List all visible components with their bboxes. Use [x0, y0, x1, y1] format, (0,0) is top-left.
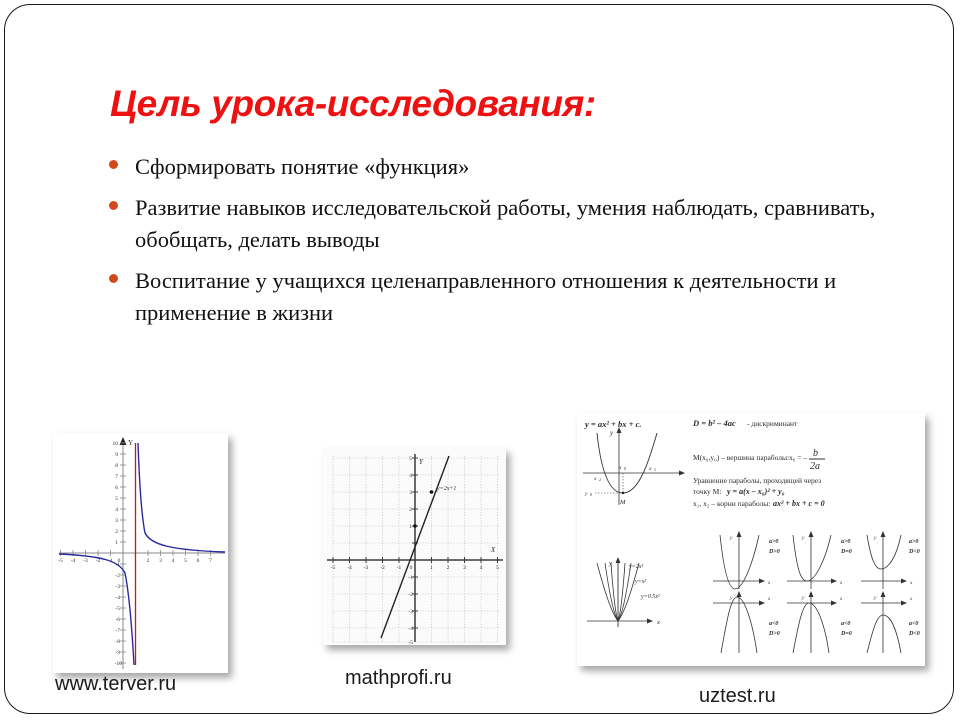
svg-text:1: 1 [654, 467, 656, 472]
svg-text:3: 3 [115, 518, 118, 524]
svg-text:-5: -5 [331, 565, 336, 571]
family-label-2: y=0.5x² [640, 594, 660, 600]
svg-text:x: x [648, 466, 652, 472]
svg-text:10: 10 [113, 441, 119, 447]
svg-text:9: 9 [115, 452, 118, 458]
svg-text:5: 5 [184, 558, 187, 564]
svg-text:3: 3 [159, 558, 162, 564]
svg-text:-5: -5 [115, 606, 120, 612]
bullet-text: Развитие навыков исследовательской работ… [135, 192, 899, 256]
through-point-line1: Уравнение параболы, проходящей через [693, 476, 821, 485]
svg-text:2: 2 [147, 558, 150, 564]
svg-text:y: y [729, 535, 733, 541]
svg-text:-2: -2 [115, 573, 120, 579]
svg-text:-7: -7 [115, 628, 120, 634]
point-intercept [413, 524, 417, 528]
svg-text:-2: -2 [96, 558, 101, 564]
svg-text:-4: -4 [115, 595, 120, 601]
bullet-text: Воспитание у учащихся целенаправленного … [135, 265, 899, 329]
svg-text:-3: -3 [364, 565, 369, 571]
svg-text:8: 8 [115, 463, 118, 469]
svg-text:5: 5 [409, 456, 412, 462]
svg-text:-1: -1 [397, 565, 402, 571]
roots-label: x₁, x₂ – корни параболы: [693, 499, 770, 508]
case-a-label-5: a<0 [909, 621, 918, 627]
svg-text:0: 0 [590, 492, 592, 497]
svg-text:-4: -4 [408, 626, 413, 632]
list-item: Развитие навыков исследовательской работ… [109, 192, 899, 256]
svg-text:1: 1 [430, 565, 433, 571]
svg-text:4: 4 [480, 565, 483, 571]
discriminant-formula: D = b² – 4ac [692, 418, 736, 428]
case-d-label-3: D>0 [768, 631, 780, 637]
bullet-text: Сформировать понятие «функция» [135, 151, 469, 183]
case-a-label-4: a<0 [841, 621, 850, 627]
y-tick-labels: 10 9 8 7 6 5 4 3 2 1 -1 -2 -3 -4 -5 -6 -… [113, 441, 123, 667]
list-item: Воспитание у учащихся целенаправленного … [109, 265, 899, 329]
svg-text:0: 0 [624, 466, 626, 471]
case-a-label-0: a>0 [769, 539, 778, 545]
parabola-reference-image: y = ax² + bx + c. D = b² – 4ac - дискрим… [577, 413, 925, 666]
svg-text:2: 2 [447, 565, 450, 571]
svg-text:y: y [873, 595, 877, 601]
axis-lines [59, 441, 225, 669]
discriminant-caption: - дискриминант [747, 419, 798, 428]
case-d-label-2: D<0 [908, 549, 920, 555]
svg-text:x: x [593, 476, 597, 482]
svg-text:4: 4 [172, 558, 175, 564]
vertex-point-label: M [619, 499, 626, 506]
svg-text:y: y [801, 535, 805, 541]
svg-text:5: 5 [496, 565, 499, 571]
page-title: Цель урока-исследования: [110, 83, 596, 125]
svg-text:7: 7 [115, 474, 118, 480]
svg-text:-1: -1 [408, 575, 413, 581]
svg-text:-3: -3 [115, 584, 120, 590]
svg-text:-2: -2 [380, 565, 385, 571]
y-axis-arrow [120, 437, 127, 445]
family-label-0: y=2x² [628, 564, 643, 570]
svg-text:-3: -3 [83, 558, 88, 564]
svg-text:-6: -6 [115, 617, 120, 623]
point-on-line [430, 490, 434, 494]
watermark-terver: www.terver.ru [55, 673, 176, 696]
svg-text:2: 2 [599, 477, 601, 482]
case-a-label-3: a<0 [769, 621, 778, 627]
svg-text:1: 1 [409, 524, 412, 530]
list-item: Сформировать понятие «функция» [109, 151, 899, 183]
bullet-list: Сформировать понятие «функция» Развитие … [109, 151, 899, 338]
svg-text:-5: -5 [58, 558, 63, 564]
svg-text:6: 6 [115, 485, 118, 491]
case-d-label-5: D<0 [908, 631, 920, 637]
svg-text:4: 4 [409, 473, 412, 479]
svg-text:x: x [656, 619, 660, 626]
case-d-label-4: D=0 [840, 631, 852, 637]
svg-text:-8: -8 [115, 639, 120, 645]
roots-formula: ax² + bx + c = 0 [773, 499, 825, 508]
case-d-label-0: D>0 [768, 549, 780, 555]
parabola-sheet: y = ax² + bx + c. D = b² – 4ac - дискрим… [577, 413, 925, 666]
svg-text:-9: -9 [115, 650, 120, 656]
general-equation-label: y = ax² + bx + c. [584, 419, 642, 429]
svg-text:2: 2 [115, 529, 118, 535]
svg-text:3: 3 [409, 490, 412, 496]
watermark-mathprofi: mathprofi.ru [345, 667, 452, 690]
bullet-dot-icon [109, 274, 118, 283]
bullet-dot-icon [109, 160, 118, 169]
line-equation-label: y=2x+1 [436, 486, 456, 492]
svg-text:7: 7 [209, 558, 212, 564]
svg-text:1: 1 [115, 540, 118, 546]
svg-text:3: 3 [463, 565, 466, 571]
vertex-formula-denominator: 2a [810, 461, 820, 472]
svg-text:-2: -2 [408, 592, 413, 598]
svg-text:y: y [584, 491, 588, 497]
svg-text:y: y [729, 595, 733, 601]
svg-text:y: y [873, 535, 877, 541]
case-d-label-1: D=0 [840, 549, 852, 555]
svg-text:-4: -4 [71, 558, 76, 564]
family-label-1: y=x² [634, 579, 646, 585]
svg-text:4: 4 [115, 507, 118, 513]
vertex-formula-numerator: b [813, 448, 818, 459]
linear-function-graph-image: Y X [323, 448, 506, 645]
through-point-line2: точку M: [693, 487, 721, 496]
case-a-label-2: a>0 [909, 539, 918, 545]
vertex-formula-lhs: x₀ = – [789, 453, 807, 462]
x-axis-label: X [490, 546, 496, 554]
case-a-label-1: a>0 [841, 539, 850, 545]
bullet-dot-icon [109, 201, 118, 210]
y-axis-label: Y [128, 439, 133, 447]
svg-text:6: 6 [197, 558, 200, 564]
svg-text:2: 2 [409, 507, 412, 513]
svg-text:-4: -4 [347, 565, 352, 571]
svg-text:-10: -10 [115, 661, 123, 667]
svg-text:y: y [801, 595, 805, 601]
vertex-label: M(x₀,y₀) – вершина параболы: [693, 453, 789, 462]
svg-text:5: 5 [115, 496, 118, 502]
slide-canvas: Цель урока-исследования: Сформировать по… [4, 4, 954, 714]
linear-chart: Y X [323, 448, 506, 645]
watermark-uztest: uztest.ru [699, 685, 776, 708]
svg-text:x: x [618, 465, 622, 471]
hyperbola-graph-image: Y -5 -4 -3 -2 -1 [53, 433, 228, 673]
svg-text:0: 0 [410, 565, 413, 571]
svg-text:-3: -3 [408, 609, 413, 615]
through-point-formula: y = a(x – x₀)² + y₀ [726, 487, 785, 496]
hyperbola-chart: Y -5 -4 -3 -2 -1 [53, 433, 228, 673]
hyperbola-branch-right [138, 443, 225, 552]
svg-text:-5: -5 [408, 640, 413, 645]
